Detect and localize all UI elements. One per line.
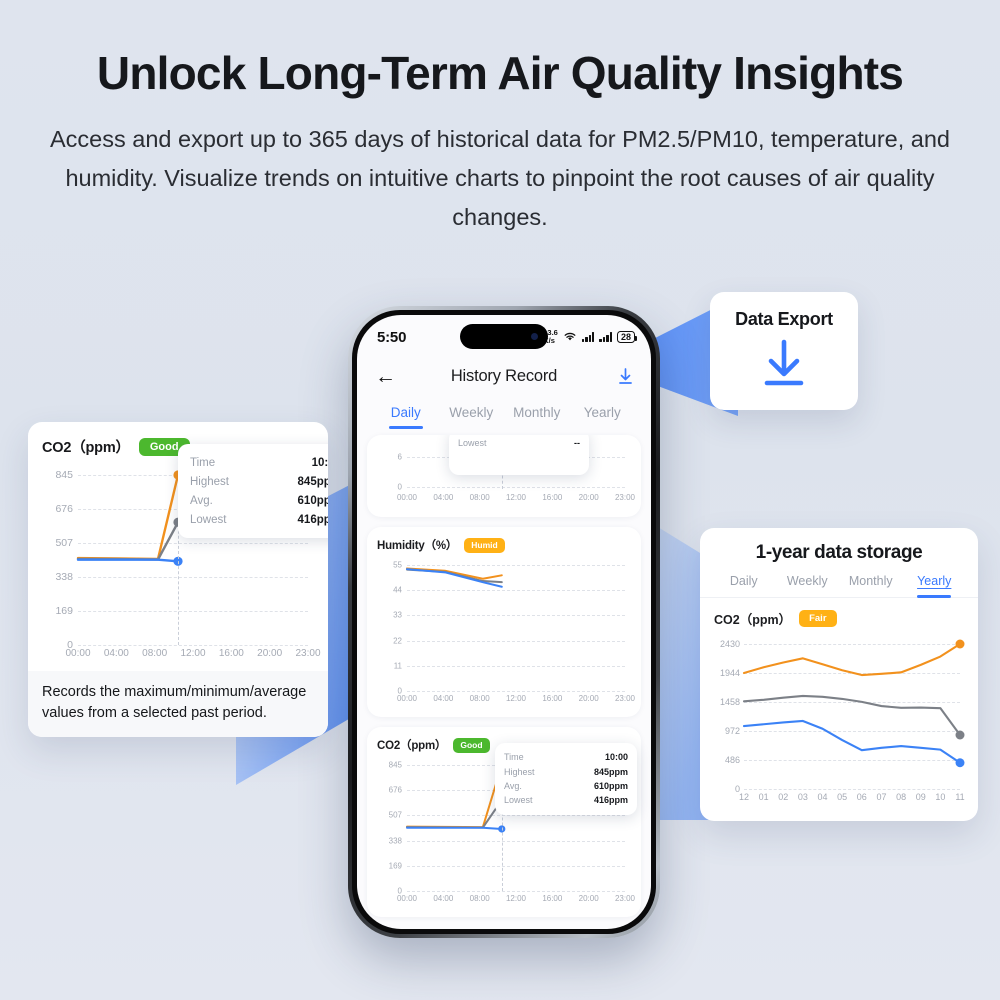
year-tab-weekly[interactable]: Weekly [776, 574, 840, 597]
gridline [407, 487, 625, 488]
tooltip-value: -- [574, 438, 580, 448]
tooltip-key: Lowest [458, 438, 487, 448]
tooltip-key: Avg. [504, 781, 522, 791]
left-callout-tooltip: Time10:00Highest845ppmAvg.610ppmLowest41… [178, 444, 328, 538]
left-callout-title: CO2（ppm） [42, 436, 130, 457]
year-tab-monthly[interactable]: Monthly [839, 574, 903, 597]
tooltip-row: Lowest416ppm [190, 510, 328, 529]
callout-card-records: CO2（ppm） Good 016933850767684500:0004:00… [28, 422, 328, 737]
app-navbar: ← History Record [357, 355, 651, 395]
status-badge-fair: Fair [799, 610, 836, 627]
hero-section: Unlock Long-Term Air Quality Insights Ac… [0, 48, 1000, 237]
tab-yearly[interactable]: Yearly [570, 405, 636, 429]
x-axis-label: 08:00 [470, 493, 490, 502]
tooltip-key: Time [504, 752, 524, 762]
tab-weekly[interactable]: Weekly [439, 405, 505, 429]
chart-card-humidity: Humidity（%） Humid 0112233445500:0004:000… [367, 527, 641, 717]
x-axis-label: 23:00 [615, 493, 635, 502]
period-tabs: Daily Weekly Monthly Yearly [357, 395, 651, 429]
page-title: Unlock Long-Term Air Quality Insights [0, 48, 1000, 100]
tooltip-value: 610ppm [298, 495, 328, 507]
co2-card-title: CO2（ppm） [377, 737, 446, 753]
chart-card-co2: CO2（ppm） Good 016933850767684500:0004:00… [367, 727, 641, 917]
page-subtitle: Access and export up to 365 days of hist… [20, 120, 980, 237]
tooltip-value: 416ppm [594, 795, 628, 805]
tooltip-key: Highest [190, 476, 229, 488]
tooltip-key: Lowest [190, 514, 226, 526]
tooltip-key: Time [190, 457, 215, 469]
chart-tooltip-partial: Lowest-- [449, 435, 589, 475]
tooltip-key: Avg. [190, 495, 213, 507]
tooltip-row: Avg.610ppm [504, 779, 628, 793]
x-axis-label: 20:00 [579, 493, 599, 502]
tooltip-key: Highest [504, 767, 535, 777]
tooltip-value: 610ppm [594, 781, 628, 791]
tooltip-value: 10:00 [605, 752, 628, 762]
scroll-area[interactable]: 6000:0004:0008:0012:0016:0020:0023:00 Lo… [357, 429, 651, 917]
phone-bezel: 5:50 13.6 K/s 28 ← History Record [352, 310, 656, 934]
year-period-tabs: Daily Weekly Monthly Yearly [700, 574, 978, 598]
status-badge-humid: Humid [464, 538, 504, 553]
chart-series [710, 634, 968, 809]
tooltip-row: Highest845ppm [504, 764, 628, 778]
y-axis-label: 6 [377, 453, 402, 462]
tooltip-row: Avg.610ppm [190, 491, 328, 510]
tab-daily[interactable]: Daily [373, 405, 439, 429]
x-axis-label: 16:00 [542, 493, 562, 502]
status-time: 5:50 [377, 329, 406, 346]
tooltip-value: 845ppm [594, 767, 628, 777]
camera-dot-icon [531, 333, 538, 340]
phone-mockup: 5:50 13.6 K/s 28 ← History Record [348, 306, 660, 938]
tooltip-row: Time10:00 [190, 453, 328, 472]
tooltip-value: 10:00 [312, 457, 328, 469]
callout-card-data-export: Data Export [710, 292, 858, 410]
download-icon [758, 338, 810, 393]
download-icon[interactable] [605, 368, 633, 385]
wifi-icon [563, 330, 577, 345]
tooltip-value: 845ppm [298, 476, 328, 488]
tooltip-row: Lowest416ppm [504, 793, 628, 807]
signal-bars-icon [582, 332, 595, 342]
left-callout-caption: Records the maximum/minimum/average valu… [28, 671, 328, 737]
y-axis-label: 0 [377, 483, 402, 492]
tab-monthly[interactable]: Monthly [504, 405, 570, 429]
phone-screen: 5:50 13.6 K/s 28 ← History Record [357, 315, 651, 929]
chart-series [377, 557, 631, 709]
co2-chart-tooltip: Time10:00Highest845ppmAvg.610ppmLowest41… [495, 743, 637, 815]
year-tab-daily[interactable]: Daily [712, 574, 776, 597]
x-axis-label: 00:00 [397, 493, 417, 502]
tooltip-row: Time10:00 [504, 750, 628, 764]
year-tab-yearly[interactable]: Yearly [903, 574, 967, 597]
back-arrow-icon[interactable]: ← [375, 366, 403, 387]
x-axis-label: 12:00 [506, 493, 526, 502]
x-axis-label: 04:00 [433, 493, 453, 502]
battery-indicator: 28 [617, 331, 635, 343]
signal-bars-secondary-icon [599, 332, 612, 342]
humidity-chart: 0112233445500:0004:0008:0012:0016:0020:0… [377, 557, 631, 709]
chart-card-partial: 6000:0004:0008:0012:0016:0020:0023:00 Lo… [367, 435, 641, 517]
tooltip-value: 416ppm [298, 514, 328, 526]
tooltip-row: Highest845ppm [190, 472, 328, 491]
dynamic-island [460, 324, 548, 349]
tooltip-key: Lowest [504, 795, 533, 805]
status-badge-good: Good [453, 738, 489, 753]
year-chart-title: CO2（ppm） [714, 609, 791, 628]
humidity-card-title: Humidity（%） [377, 537, 457, 553]
callout-card-year-storage: 1-year data storage Daily Weekly Monthly… [700, 528, 978, 821]
year-chart: 0486972145819442430120102030405060708091… [710, 634, 968, 809]
app-title: History Record [403, 367, 605, 386]
export-callout-title: Data Export [735, 309, 833, 330]
year-callout-title: 1-year data storage [700, 528, 978, 574]
